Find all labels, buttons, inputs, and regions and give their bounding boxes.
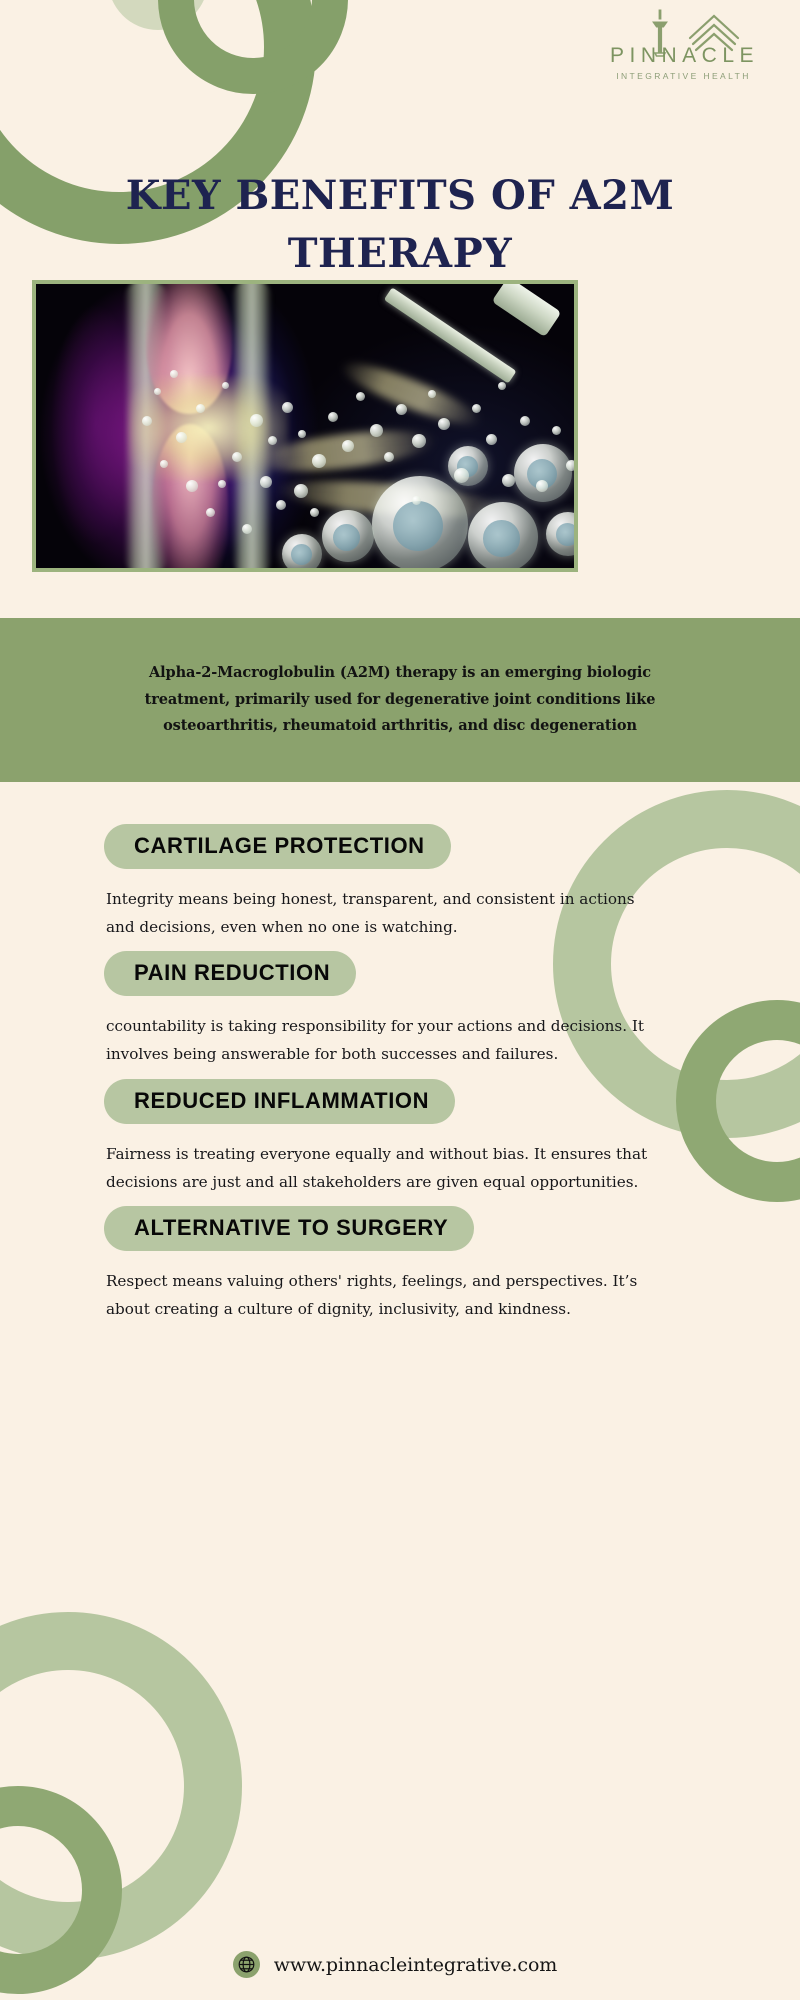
hero-image [32,280,578,572]
benefit-body-reduced-inflammation: Fairness is treating everyone equally an… [0,1140,800,1196]
globe-icon [233,1951,260,1978]
benefits-list: CARTILAGE PROTECTION Integrity means bei… [0,824,800,1333]
benefit-item: ALTERNATIVE TO SURGERY Respect means val… [0,1206,800,1323]
infographic-poster: PINNACLE INTEGRATIVE HEALTH KEY BENEFITS… [0,0,800,2000]
decorative-circle-top-left-light [108,0,208,30]
page-title: KEY BENEFITS OF A2M THERAPY [0,167,800,283]
benefit-item: CARTILAGE PROTECTION Integrity means bei… [0,824,800,941]
benefit-heading-reduced-inflammation: REDUCED INFLAMMATION [104,1079,455,1124]
benefit-heading-cartilage-protection: CARTILAGE PROTECTION [104,824,451,869]
website-url[interactable]: www.pinnacleintegrative.com [274,1954,557,1976]
benefit-body-pain-reduction: ccountability is taking responsibility f… [0,1012,800,1068]
brand-name: PINNACLE [582,45,782,66]
intro-band: Alpha-2-Macroglobulin (A2M) therapy is a… [0,618,800,782]
decorative-ring-bottom-left-large [0,1612,242,1960]
benefit-body-alternative-to-surgery: Respect means valuing others' rights, fe… [0,1267,800,1323]
intro-text: Alpha-2-Macroglobulin (A2M) therapy is a… [120,660,680,740]
brand-logo: PINNACLE INTEGRATIVE HEALTH [582,8,782,81]
benefit-item: REDUCED INFLAMMATION Fairness is treatin… [0,1079,800,1196]
benefit-item: PAIN REDUCTION ccountability is taking r… [0,951,800,1068]
footer: www.pinnacleintegrative.com [0,1951,800,1978]
brand-tagline: INTEGRATIVE HEALTH [582,71,782,81]
benefit-body-cartilage-protection: Integrity means being honest, transparen… [0,885,800,941]
decorative-ring-top-left-small [158,0,348,94]
benefit-heading-alternative-to-surgery: ALTERNATIVE TO SURGERY [104,1206,474,1251]
benefit-heading-pain-reduction: PAIN REDUCTION [104,951,356,996]
